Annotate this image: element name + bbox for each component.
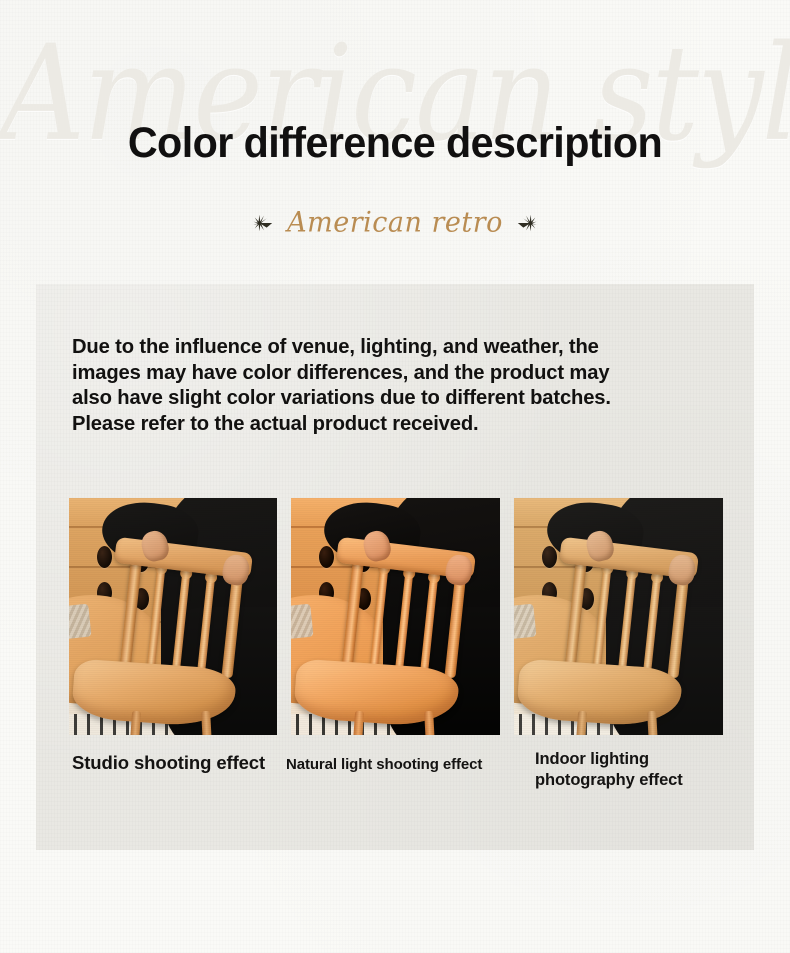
- page-subtitle: American retro: [287, 205, 503, 241]
- caption-natural-light-shooting: Natural light shooting effect: [286, 755, 482, 774]
- chair-photo-scene-2: [291, 498, 500, 735]
- chair-photo-scene-1: [69, 498, 277, 735]
- leaf-ornament-left-icon: [252, 212, 274, 234]
- photo-natural-light-shooting[interactable]: [291, 498, 500, 735]
- caption-studio-shooting: Studio shooting effect: [72, 751, 265, 774]
- caption-indoor-lighting: Indoor lighting photography effect: [535, 749, 683, 790]
- subtitle-row: American retro: [0, 206, 790, 240]
- leaf-ornament-right-icon: [516, 212, 538, 234]
- page-header: American style Color difference descript…: [0, 0, 790, 284]
- color-difference-card: Due to the influence of venue, lighting,…: [36, 284, 754, 850]
- chair-photo-scene-3: [514, 498, 723, 735]
- disclaimer-text: Due to the influence of venue, lighting,…: [72, 334, 710, 436]
- photo-indoor-lighting[interactable]: [514, 498, 723, 735]
- photo-studio-shooting[interactable]: [69, 498, 277, 735]
- photo-comparison-row: [69, 498, 723, 735]
- page-title: Color difference description: [16, 118, 774, 168]
